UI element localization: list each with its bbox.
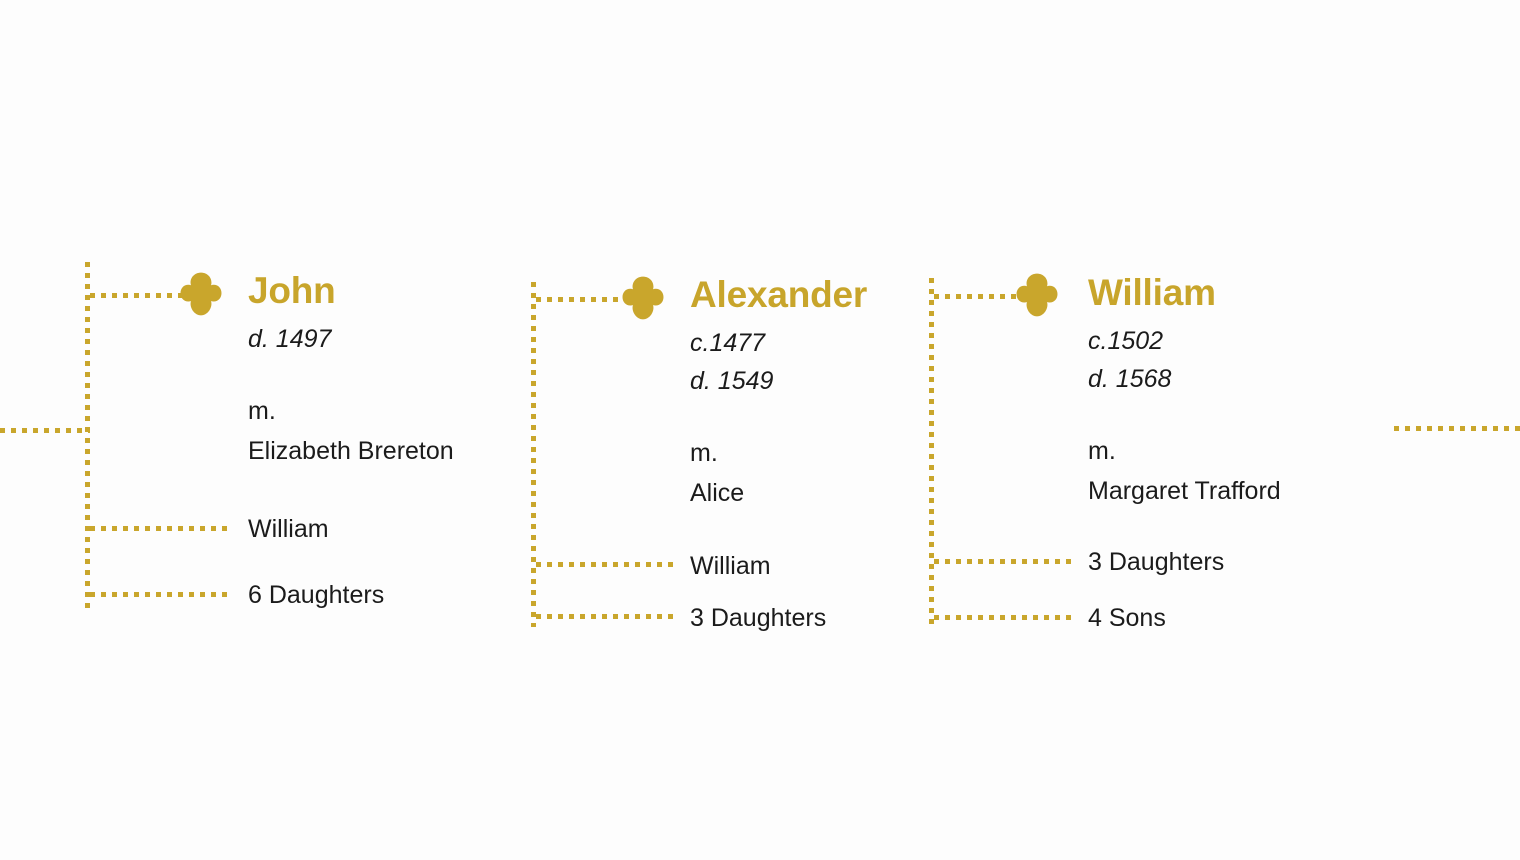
marriage-block: m. Margaret Trafford xyxy=(1088,431,1281,511)
child-label: 6 Daughters xyxy=(248,583,384,608)
outgoing-sibling-connector xyxy=(1394,426,1520,431)
child-connector xyxy=(536,614,674,619)
person-details-william: William c.1502 d. 1568 m. Margaret Traff… xyxy=(1088,274,1281,511)
marriage-label: m. xyxy=(690,433,867,473)
child-label: 3 Daughters xyxy=(690,606,826,631)
marriage-block: m. Alice xyxy=(690,433,867,513)
quatrefoil-icon xyxy=(1016,272,1058,318)
child-label: 3 Daughters xyxy=(1088,550,1224,575)
person-dates: c.1502 d. 1568 xyxy=(1088,322,1281,398)
child-label: 4 Sons xyxy=(1088,606,1166,631)
child-connector xyxy=(536,562,674,567)
node-connector-alexander xyxy=(536,297,626,302)
person-details-alexander: Alexander c.1477 d. 1549 m. Alice xyxy=(690,276,867,513)
quatrefoil-icon xyxy=(622,275,664,321)
marriage-label: m. xyxy=(248,391,454,431)
child-label: William xyxy=(690,554,771,579)
date-line: d. 1497 xyxy=(248,320,454,358)
date-line: c.1502 xyxy=(1088,322,1281,360)
spouse-name: Elizabeth Brereton xyxy=(248,431,454,471)
child-connector xyxy=(934,615,1072,620)
person-dates: d. 1497 xyxy=(248,320,454,358)
person-name: William xyxy=(1088,274,1281,311)
marriage-block: m. Elizabeth Brereton xyxy=(248,391,454,471)
spouse-name: Margaret Trafford xyxy=(1088,471,1281,511)
person-name: Alexander xyxy=(690,276,867,313)
date-line: d. 1549 xyxy=(690,362,867,400)
quatrefoil-icon xyxy=(180,271,222,317)
node-connector-william xyxy=(934,294,1020,299)
person-dates: c.1477 d. 1549 xyxy=(690,324,867,400)
child-connector xyxy=(934,559,1072,564)
child-connector xyxy=(90,526,232,531)
family-tree-canvas: John d. 1497 m. Elizabeth Brereton Willi… xyxy=(0,0,1520,860)
spouse-name: Alice xyxy=(690,473,867,513)
date-line: d. 1568 xyxy=(1088,360,1281,398)
marriage-label: m. xyxy=(1088,431,1281,471)
sibling-spine-william xyxy=(929,278,934,626)
child-connector xyxy=(90,592,232,597)
person-details-john: John d. 1497 m. Elizabeth Brereton xyxy=(248,272,454,471)
person-name: John xyxy=(248,272,454,309)
sibling-spine-john xyxy=(85,262,90,610)
node-connector-john xyxy=(90,293,184,298)
sibling-spine-alexander xyxy=(531,282,536,627)
date-line: c.1477 xyxy=(690,324,867,362)
child-label: William xyxy=(248,517,329,542)
incoming-parent-connector xyxy=(0,428,90,433)
